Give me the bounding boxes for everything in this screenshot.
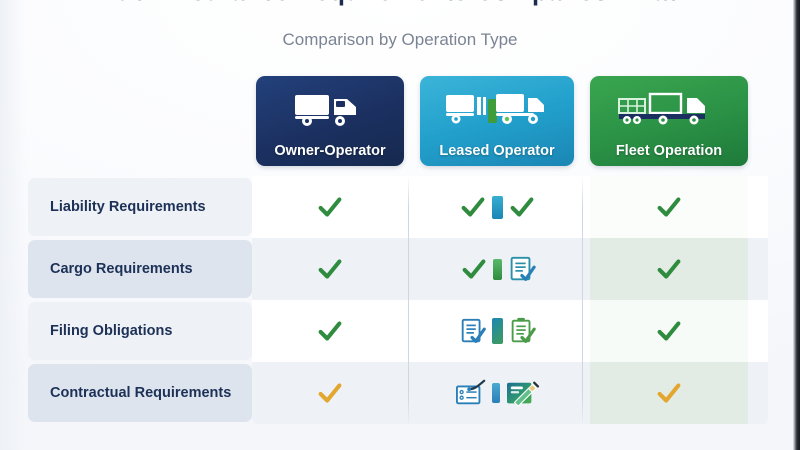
matrix-rows: Liability Requirements bbox=[28, 176, 768, 424]
cell-owner-liability[interactable] bbox=[256, 176, 404, 238]
check-icon bbox=[459, 254, 489, 284]
check-icon bbox=[315, 378, 345, 408]
check-icon bbox=[654, 192, 684, 222]
row-cells bbox=[252, 362, 768, 424]
check-icon bbox=[315, 254, 345, 284]
teal-bar-icon bbox=[492, 196, 503, 219]
teal-bar-icon bbox=[492, 318, 503, 344]
table-row: Liability Requirements bbox=[28, 176, 768, 238]
clipboard-check-icon bbox=[507, 316, 537, 346]
right-edge-strip bbox=[793, 0, 800, 450]
row-label-contractual-requirements: Contractual Requirements bbox=[28, 364, 252, 422]
cell-owner-filing[interactable] bbox=[256, 300, 404, 362]
cell-fleet-liability[interactable] bbox=[590, 176, 748, 238]
column-header-owner-operator[interactable]: Owner-Operator bbox=[256, 76, 404, 166]
check-icon bbox=[654, 316, 684, 346]
row-cells bbox=[252, 238, 768, 300]
check-icon bbox=[507, 192, 537, 222]
cell-owner-cargo[interactable] bbox=[256, 238, 404, 300]
table-row: Filing Obligations bbox=[28, 300, 768, 362]
row-label-cargo-requirements: Cargo Requirements bbox=[28, 240, 252, 298]
row-cells bbox=[252, 176, 768, 238]
row-label-liability-requirements: Liability Requirements bbox=[28, 178, 252, 236]
cell-fleet-contractual[interactable] bbox=[590, 362, 748, 424]
check-icon bbox=[654, 254, 684, 284]
table-row: Cargo Requirements bbox=[28, 238, 768, 300]
blue-bar-icon bbox=[492, 383, 500, 403]
fleet-truck-icon bbox=[590, 85, 748, 135]
column-header-label: Leased Operator bbox=[420, 143, 574, 159]
table-row: Contractual Requirements bbox=[28, 362, 768, 424]
check-icon bbox=[315, 192, 345, 222]
contract-form-icon bbox=[454, 378, 488, 408]
row-label-text: Contractual Requirements bbox=[50, 385, 231, 401]
row-label-text: Liability Requirements bbox=[50, 199, 206, 215]
document-check-icon bbox=[506, 254, 536, 284]
signing-pencil-icon bbox=[504, 378, 540, 408]
cell-fleet-cargo[interactable] bbox=[590, 238, 748, 300]
row-label-text: Filing Obligations bbox=[50, 323, 172, 339]
comparison-matrix: Owner-Operator bbox=[28, 72, 768, 427]
page-title: Truck Insurance Requirements Comparison … bbox=[0, 0, 800, 7]
matrix-header-row: Owner-Operator bbox=[28, 72, 768, 170]
cell-fleet-filing[interactable] bbox=[590, 300, 748, 362]
column-header-fleet-operation[interactable]: Fleet Operation bbox=[590, 76, 748, 166]
check-icon bbox=[654, 378, 684, 408]
poster-canvas: Truck Insurance Requirements Comparison … bbox=[0, 0, 800, 450]
two-trucks-icon bbox=[420, 85, 574, 135]
column-header-leased-operator[interactable]: Leased Operator bbox=[420, 76, 574, 166]
cell-leased-contractual[interactable] bbox=[420, 362, 574, 424]
column-header-label: Owner-Operator bbox=[256, 143, 404, 159]
green-bar-icon bbox=[493, 259, 502, 280]
page-subtitle: Comparison by Operation Type bbox=[0, 30, 800, 50]
row-cells bbox=[252, 300, 768, 362]
document-check-icon bbox=[458, 316, 488, 346]
cell-leased-filing[interactable] bbox=[420, 300, 574, 362]
check-icon bbox=[315, 316, 345, 346]
check-icon bbox=[458, 192, 488, 222]
row-label-filing-obligations: Filing Obligations bbox=[28, 302, 252, 360]
truck-icon bbox=[256, 85, 404, 135]
row-label-text: Cargo Requirements bbox=[50, 261, 193, 277]
cell-leased-liability[interactable] bbox=[420, 176, 574, 238]
cell-leased-cargo[interactable] bbox=[420, 238, 574, 300]
column-header-label: Fleet Operation bbox=[590, 143, 748, 159]
cell-owner-contractual[interactable] bbox=[256, 362, 404, 424]
